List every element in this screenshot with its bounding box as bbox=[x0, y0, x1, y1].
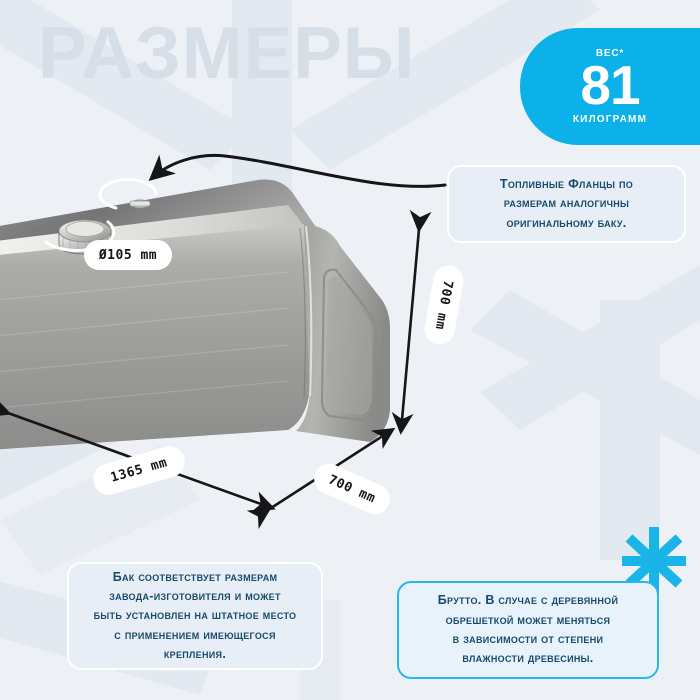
weight-badge: ВЕС* 81 КИЛОГРАММ bbox=[520, 28, 700, 145]
weight-value: 81 bbox=[580, 57, 639, 113]
callout-fuel-flange-text: Топливные Фланцы по размерам аналогичны … bbox=[488, 175, 645, 233]
callout-gross-weight: Брутто. В случае с деревянной обрешеткой… bbox=[397, 581, 659, 679]
fuel-flange bbox=[130, 200, 150, 208]
callout-gross-weight-text: Брутто. В случае с деревянной обрешеткой… bbox=[426, 591, 630, 669]
callout-factory-fitment: Бак соответствует размерам завода-изгото… bbox=[67, 562, 323, 670]
fuel-tank-illustration bbox=[0, 150, 428, 525]
page-title: РАЗМЕРЫ bbox=[38, 17, 415, 90]
weight-unit: КИЛОГРАММ bbox=[573, 114, 647, 125]
dimension-diameter: Ø105 mm bbox=[84, 240, 172, 270]
callout-factory-fitment-text: Бак соответствует размерам завода-изгото… bbox=[82, 568, 309, 665]
callout-fuel-flange: Топливные Фланцы по размерам аналогичны … bbox=[447, 165, 686, 243]
infographic-canvas: РАЗМЕРЫ bbox=[0, 0, 700, 700]
